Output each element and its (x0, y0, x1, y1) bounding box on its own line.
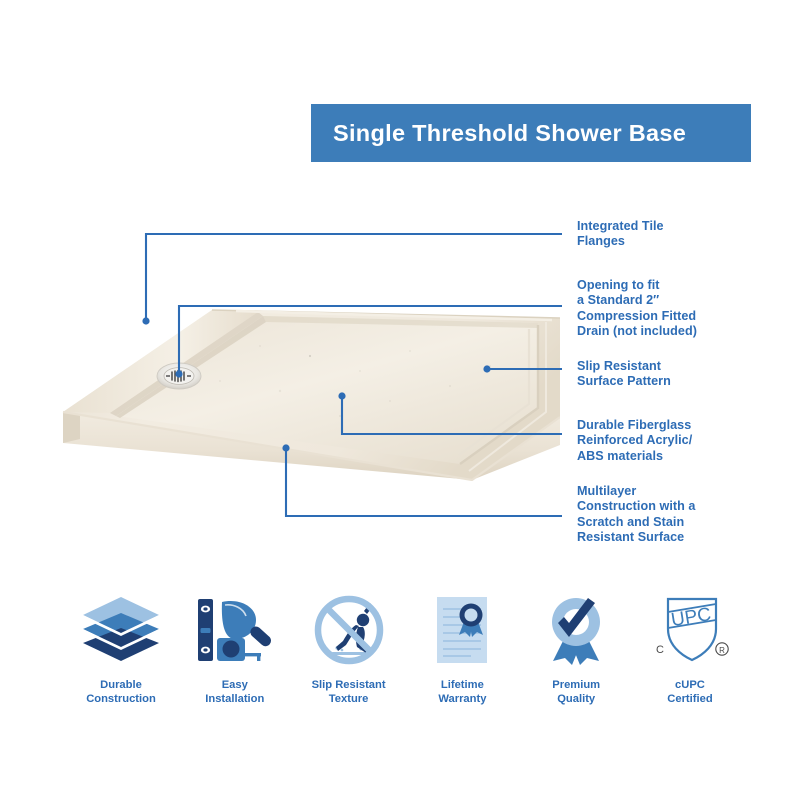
callout-label-durable-fiberglass-materials: Durable Fiberglass Reinforced Acrylic/ A… (577, 418, 692, 464)
feature-label: Premium Quality (552, 679, 600, 706)
layers-icon (77, 592, 165, 668)
level-trowel-icon (191, 592, 279, 668)
feature-label: Lifetime Warranty (438, 679, 486, 706)
callout-label-integrated-tile-flanges: Integrated Tile Flanges (577, 219, 664, 250)
callout-label-slip-resistant-surface-pattern: Slip Resistant Surface Pattern (577, 359, 671, 390)
feature-label: Durable Construction (86, 679, 156, 706)
feature-label: Easy Installation (205, 679, 264, 706)
leader-line-multilayer (286, 448, 562, 516)
certificate-icon (418, 592, 506, 668)
leader-line-integrated-tile-flanges (146, 234, 562, 321)
leader-dot-slip-resistant (483, 365, 490, 372)
feature-slip-resistant-texture: Slip Resistant Texture (296, 592, 402, 706)
upc-right-mark: R (719, 646, 725, 655)
callout-label-multilayer-construction: Multilayer Construction with a Scratch a… (577, 484, 696, 546)
leader-line-fiberglass (342, 396, 562, 434)
check-rosette-icon (532, 592, 620, 668)
feature-label: Slip Resistant Texture (312, 679, 386, 706)
leader-dot-integrated-tile-flanges (142, 317, 149, 324)
feature-badge-strip: Durable Construction (68, 592, 743, 717)
leader-dot-drain-opening (175, 370, 182, 377)
feature-lifetime-warranty: Lifetime Warranty (409, 592, 515, 706)
no-slip-icon (305, 592, 393, 668)
upc-shield-text: UPC (670, 604, 713, 631)
feature-label: cUPC Certified (667, 679, 712, 706)
leader-dot-fiberglass (338, 392, 345, 399)
upc-shield-icon: UPC C R (646, 592, 734, 668)
leader-line-drain-opening (179, 306, 562, 374)
feature-easy-installation: Easy Installation (182, 592, 288, 706)
upc-left-mark: C (656, 644, 664, 656)
feature-cupc-certified: UPC C R cUPC Certified (637, 592, 743, 706)
callout-label-drain-opening: Opening to fit a Standard 2″ Compression… (577, 278, 697, 340)
page-title: Single Threshold Shower Base (311, 120, 686, 147)
title-banner: Single Threshold Shower Base (311, 104, 751, 162)
feature-durable-construction: Durable Construction (68, 592, 174, 706)
leader-dot-multilayer (282, 444, 289, 451)
infographic-canvas: Single Threshold Shower Base Integrated … (0, 0, 806, 806)
feature-premium-quality: Premium Quality (523, 592, 629, 706)
